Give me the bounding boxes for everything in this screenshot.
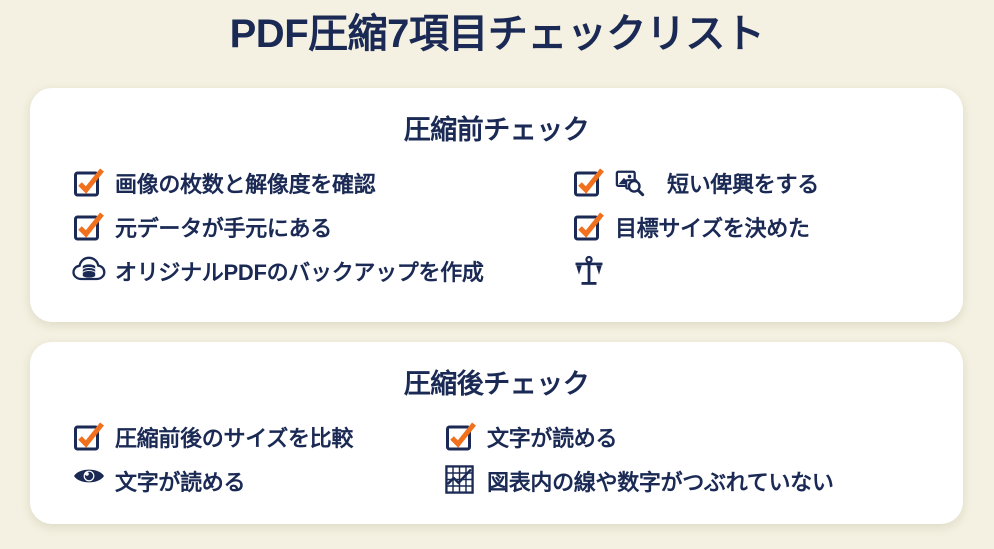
eye-icon [72,464,106,498]
checklist-item[interactable] [572,249,615,293]
checklist-item[interactable]: 目標サイズを決めた [572,205,810,249]
checklist-rows-pre: 画像の枚数と解像度を確認 [30,161,963,293]
checklist-item-label: 目標サイズを決めた [615,211,810,243]
checklist-rows-post: 圧縮前後のサイズを比較 文字が読める [30,415,963,503]
image-search-icon [615,168,645,198]
page-title: PDF圧縮7項目チェックリスト [0,8,994,60]
checkbox-checked-icon[interactable] [572,166,606,200]
checkbox-checked-icon[interactable] [72,210,106,244]
chart-grid-icon [444,464,478,498]
checklist-item-label: 画像の枚数と解像度を確認 [115,167,375,199]
checklist-item-label: 図表内の線や数字がつぶれていない [487,465,834,497]
checklist-row: オリジナルPDFのバックアップを作成 [72,249,945,293]
card-post-compression: 圧縮後チェック 圧縮前後のサイズを比較 [30,342,963,524]
checklist-item-label: 文字が読める [115,465,245,497]
checklist-item[interactable]: オリジナルPDFのバックアップを作成 [72,249,572,293]
checklist-item[interactable]: 文字が読める [72,459,444,503]
checklist-row: 文字が読める [72,459,945,503]
card-pre-compression: 圧縮前チェック 画像の枚数と解像度を確認 [30,88,963,322]
checklist-row: 元データが手元にある 目標サイズを決めた [72,205,945,249]
checklist-item-label: 短い俾興をする [667,167,819,199]
checkbox-checked-icon[interactable] [72,420,106,454]
cloud-database-icon [72,254,106,288]
card-heading-pre: 圧縮前チェック [30,108,963,147]
checklist-item-label: 圧縮前後のサイズを比較 [115,421,353,453]
checklist-item-label: オリジナルPDFのバックアップを作成 [115,255,484,287]
checklist-item-label: 文字が読める [487,421,617,453]
checklist-poster: PDF圧縮7項目チェックリスト 圧縮前チェック 画像の枚数と解像度を確認 [0,0,994,549]
checklist-item[interactable]: 圧縮前後のサイズを比較 [72,415,444,459]
checklist-row: 画像の枚数と解像度を確認 [72,161,945,205]
checklist-item[interactable]: 元データが手元にある [72,205,572,249]
checkbox-checked-icon[interactable] [572,210,606,244]
balance-scale-icon [572,254,606,288]
checklist-row: 圧縮前後のサイズを比較 文字が読める [72,415,945,459]
checklist-item[interactable]: 短い俾興をする [572,161,819,205]
checklist-item[interactable]: 画像の枚数と解像度を確認 [72,161,572,205]
checkbox-checked-icon[interactable] [444,420,478,454]
checkbox-checked-icon[interactable] [72,166,106,200]
card-heading-post: 圧縮後チェック [30,362,963,401]
checklist-item[interactable]: 図表内の線や数字がつぶれていない [444,459,834,503]
checklist-item[interactable]: 文字が読める [444,415,617,459]
checklist-item-label: 元データが手元にある [115,211,332,243]
